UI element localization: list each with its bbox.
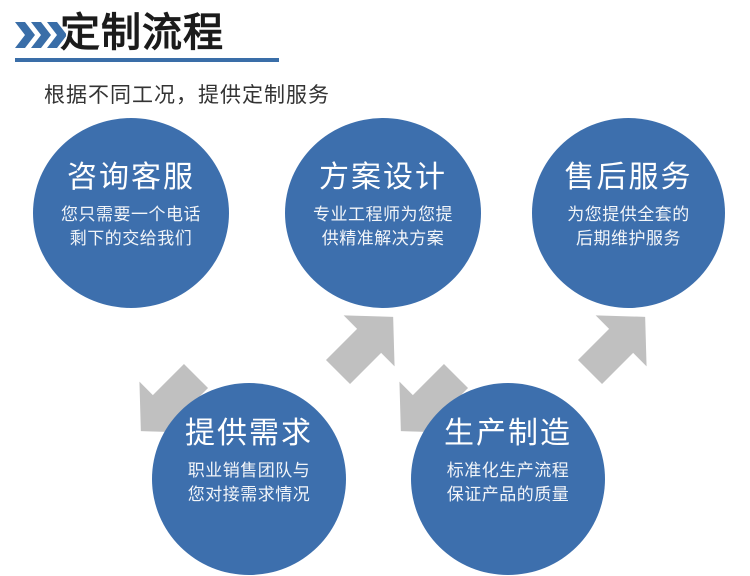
flow-node-content: 方案设计 专业工程师为您提 供精准解决方案 [285,159,481,251]
flow-node-content: 售后服务 为您提供全套的 后期维护服务 [532,159,725,251]
customization-process-banner: 定制流程 根据不同工况，提供定制服务 [0,0,750,576]
flow-node-desc-line1: 标准化生产流程 [419,459,597,483]
flow-node-desc-line2: 您对接需求情况 [160,483,338,507]
flow-node-content: 提供需求 职业销售团队与 您对接需求情况 [152,415,346,507]
flow-node-after-sales[interactable]: 售后服务 为您提供全套的 后期维护服务 [532,118,725,308]
flow-node-title: 生产制造 [419,415,597,453]
process-flow-diagram: 咨询客服 您只需要一个电话 剩下的交给我们 方案设计 专业工程师为您提 供精准解… [0,0,750,576]
flow-node-desc-line2: 保证产品的质量 [419,483,597,507]
flow-node-title: 方案设计 [293,159,473,197]
flow-node-design[interactable]: 方案设计 专业工程师为您提 供精准解决方案 [285,118,481,308]
flow-node-content: 咨询客服 您只需要一个电话 剩下的交给我们 [33,159,229,251]
flow-node-content: 生产制造 标准化生产流程 保证产品的质量 [411,415,605,507]
flow-node-requirements[interactable]: 提供需求 职业销售团队与 您对接需求情况 [152,383,346,575]
flow-node-desc-line2: 后期维护服务 [540,227,717,251]
flow-node-desc-line2: 供精准解决方案 [293,227,473,251]
flow-node-desc-line1: 您只需要一个电话 [41,203,221,227]
flow-node-manufacture[interactable]: 生产制造 标准化生产流程 保证产品的质量 [411,383,605,575]
flow-node-title: 售后服务 [540,159,717,197]
flow-node-consult[interactable]: 咨询客服 您只需要一个电话 剩下的交给我们 [33,118,229,308]
flow-node-desc-line1: 为您提供全套的 [540,203,717,227]
flow-node-desc-line2: 剩下的交给我们 [41,227,221,251]
flow-node-title: 咨询客服 [41,159,221,197]
flow-node-title: 提供需求 [160,415,338,453]
flow-node-desc-line1: 职业销售团队与 [160,459,338,483]
arrow-requirements-to-design [313,291,419,397]
flow-node-desc-line1: 专业工程师为您提 [293,203,473,227]
